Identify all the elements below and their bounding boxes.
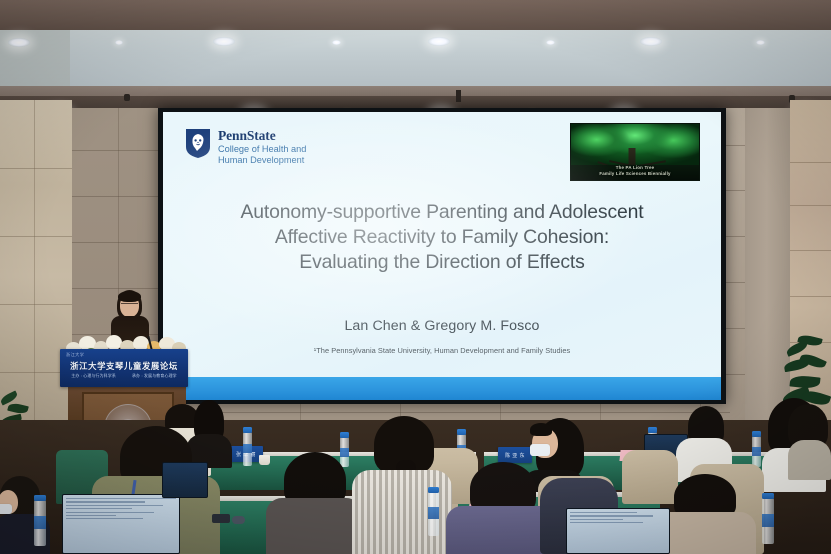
marble-seam — [0, 236, 72, 237]
water-bottle — [243, 432, 252, 466]
slide-title-line1: Autonomy-supportive Parenting and Adoles… — [193, 200, 691, 225]
bottle-label — [762, 514, 774, 527]
wall-seam — [72, 242, 162, 243]
face-mask — [0, 504, 12, 514]
mobile-phone[interactable] — [212, 514, 230, 523]
pennstate-college-line1: College of Health and — [218, 144, 306, 155]
hair-front — [530, 423, 552, 436]
presentation-slide: PennState College of Health and Human De… — [163, 112, 721, 400]
ceiling-light — [428, 37, 450, 46]
slide-authors: Lan Chen & Gregory M. Fosco — [193, 318, 691, 334]
presenter-glasses — [121, 303, 138, 307]
slide-title-line3: Evaluating the Direction of Effects — [193, 250, 691, 275]
wall-seam — [72, 150, 162, 151]
bottle-label — [243, 444, 252, 453]
tree-photo: The PA Lion Tree Family Life Sciences Bi… — [570, 123, 700, 181]
conference-room-photo: PennState College of Health and Human De… — [0, 0, 831, 554]
pennstate-wordmark: PennState — [218, 129, 306, 143]
marble-seam — [790, 296, 831, 297]
ceiling-light — [213, 37, 235, 46]
bottle-cap — [648, 427, 657, 433]
face-mask — [530, 444, 550, 456]
water-bottle — [752, 436, 761, 467]
bottle-label — [428, 507, 439, 519]
bottle-label — [752, 447, 761, 456]
audience-member-front — [266, 452, 362, 554]
marble-seam — [0, 168, 72, 169]
water-bottle — [762, 498, 774, 544]
pennstate-college-line2: Human Development — [218, 155, 306, 166]
wall-seam — [72, 196, 162, 197]
ceiling-light — [640, 37, 662, 46]
ceiling-light — [115, 40, 123, 45]
bottle-label — [34, 516, 46, 529]
ceiling-light — [546, 40, 555, 45]
presenter-bangs — [118, 291, 141, 302]
wall-seam — [160, 412, 730, 413]
water-bottle — [34, 500, 46, 546]
bottle-cap — [457, 429, 466, 435]
bottle-cap — [752, 431, 761, 437]
torso — [788, 440, 831, 480]
pennstate-shield-icon — [185, 128, 211, 159]
audience-member — [788, 404, 831, 476]
slide-title: Autonomy-supportive Parenting and Adoles… — [193, 200, 691, 276]
marble-seam — [790, 205, 831, 206]
bottle-cap — [243, 427, 252, 433]
laptop-screen-content — [570, 512, 666, 526]
laptop-open[interactable] — [62, 494, 180, 554]
marble-seam — [0, 304, 72, 305]
marble-seam — [790, 250, 831, 251]
tree-photo-caption: The PA Lion Tree Family Life Sciences Bi… — [571, 165, 699, 177]
bottle-cap — [428, 487, 439, 493]
laptop-open[interactable] — [162, 462, 208, 498]
laptop-screen-content — [66, 498, 176, 522]
marble-seam — [790, 162, 831, 163]
podium-banner-university: 浙江大学 — [66, 352, 84, 358]
podium-banner: 浙江大学 浙江大学支琴儿童发展论坛 主办 : 心理与行为科学系 承办 : 发展与… — [60, 349, 188, 387]
marble-column-left — [0, 100, 72, 440]
slide-accent-band — [163, 377, 721, 400]
bottle-cap — [340, 432, 349, 438]
slide-title-line2: Affective Reactivity to Family Cohesion: — [193, 225, 691, 250]
bottle-cap — [34, 495, 46, 501]
ceiling-light — [756, 40, 765, 45]
ceiling-sprinkler-icon — [456, 90, 461, 102]
water-bottle — [428, 492, 439, 536]
ceiling-light — [332, 40, 341, 45]
torso — [266, 498, 362, 554]
computer-mouse[interactable] — [232, 516, 245, 524]
podium-banner-sub-left: 主办 : 心理与行为科学系 — [71, 373, 116, 379]
ceiling-soffit — [0, 30, 831, 88]
ceiling-upper-dark — [0, 0, 831, 34]
wall-seam — [72, 288, 162, 289]
podium-banner-subtitle: 主办 : 心理与行为科学系 承办 : 发展与教育心理学 — [60, 373, 188, 379]
tree-caption-line2: Family Life Sciences Biennially — [571, 171, 699, 177]
pennstate-logo: PennState College of Health and Human De… — [185, 128, 306, 167]
ceiling-sprinkler-icon — [124, 94, 130, 101]
podium-banner-sub-right: 承办 : 发展与教育心理学 — [132, 373, 177, 379]
ceiling-light — [8, 38, 30, 47]
marble-seam — [34, 100, 35, 440]
podium-banner-title: 浙江大学支琴儿童发展论坛 — [60, 360, 188, 372]
slide-affiliation: ¹The Pennsylvania State University, Huma… — [193, 346, 691, 355]
bottle-cap — [762, 493, 774, 499]
laptop-open[interactable] — [566, 508, 670, 554]
